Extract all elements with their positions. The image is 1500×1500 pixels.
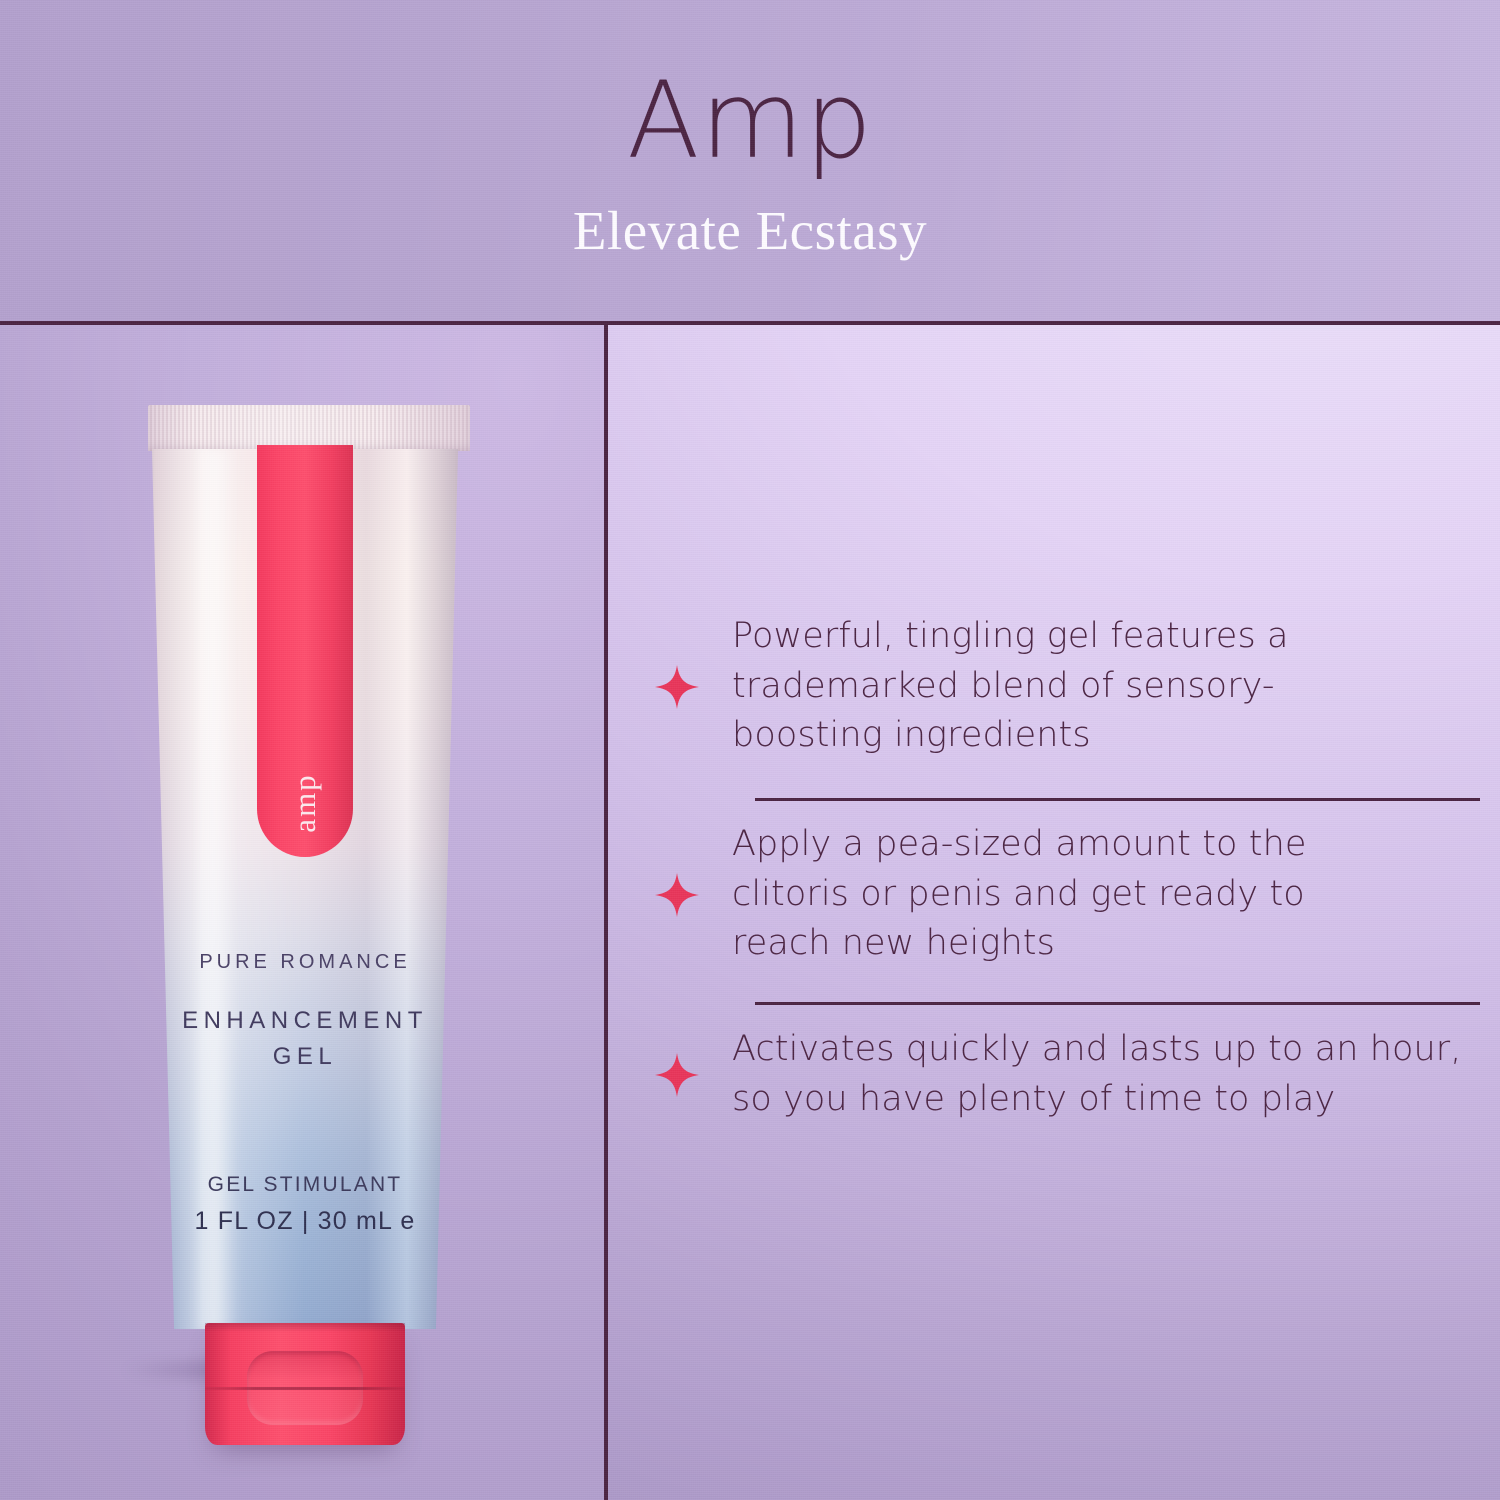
tube-product-name-line1: ENHANCEMENT — [135, 1007, 475, 1035]
tube-accent-stripe: amp — [257, 445, 353, 857]
feature-separator — [755, 1002, 1480, 1005]
page-title: Amp — [0, 68, 1500, 174]
feature-item: Activates quickly and lasts up to an hou… — [608, 1025, 1492, 1124]
product-tube: amp PURE ROMANCE ENHANCEMENT GEL GEL STI… — [135, 405, 475, 1405]
tube-flip-cap — [205, 1323, 405, 1445]
sparkle-icon — [654, 1052, 700, 1098]
tube-highlight — [193, 449, 237, 1329]
features-panel: Powerful, tingling gel features a tradem… — [608, 325, 1500, 1500]
tube-product-name-line2: GEL — [135, 1043, 475, 1071]
tube-volume-text: 1 FL OZ | 30 mL e — [135, 1207, 475, 1236]
feature-separator — [755, 798, 1480, 801]
feature-text: Activates quickly and lasts up to an hou… — [732, 1025, 1492, 1124]
cap-top-edge — [205, 1323, 405, 1332]
tube-logo-amp: amp — [287, 773, 323, 832]
product-image-panel: amp PURE ROMANCE ENHANCEMENT GEL GEL STI… — [0, 325, 604, 1500]
cap-seam-line — [205, 1387, 405, 1390]
tube-brand-text: PURE ROMANCE — [135, 951, 475, 974]
tagline: Elevate Ecstasy — [0, 203, 1500, 258]
sparkle-icon — [654, 872, 700, 918]
sparkle-icon — [654, 664, 700, 710]
feature-item: Apply a pea-sized amount to the clitoris… — [608, 820, 1392, 969]
feature-text: Powerful, tingling gel features a tradem… — [732, 612, 1372, 761]
feature-item: Powerful, tingling gel features a tradem… — [608, 612, 1372, 761]
tube-product-name-french: GEL STIMULANT — [135, 1173, 475, 1197]
feature-text: Apply a pea-sized amount to the clitoris… — [732, 820, 1392, 969]
header: Amp Elevate Ecstasy — [0, 0, 1500, 322]
product-marketing-card: Amp Elevate Ecstasy amp PURE ROMANCE ENH… — [0, 0, 1500, 1500]
